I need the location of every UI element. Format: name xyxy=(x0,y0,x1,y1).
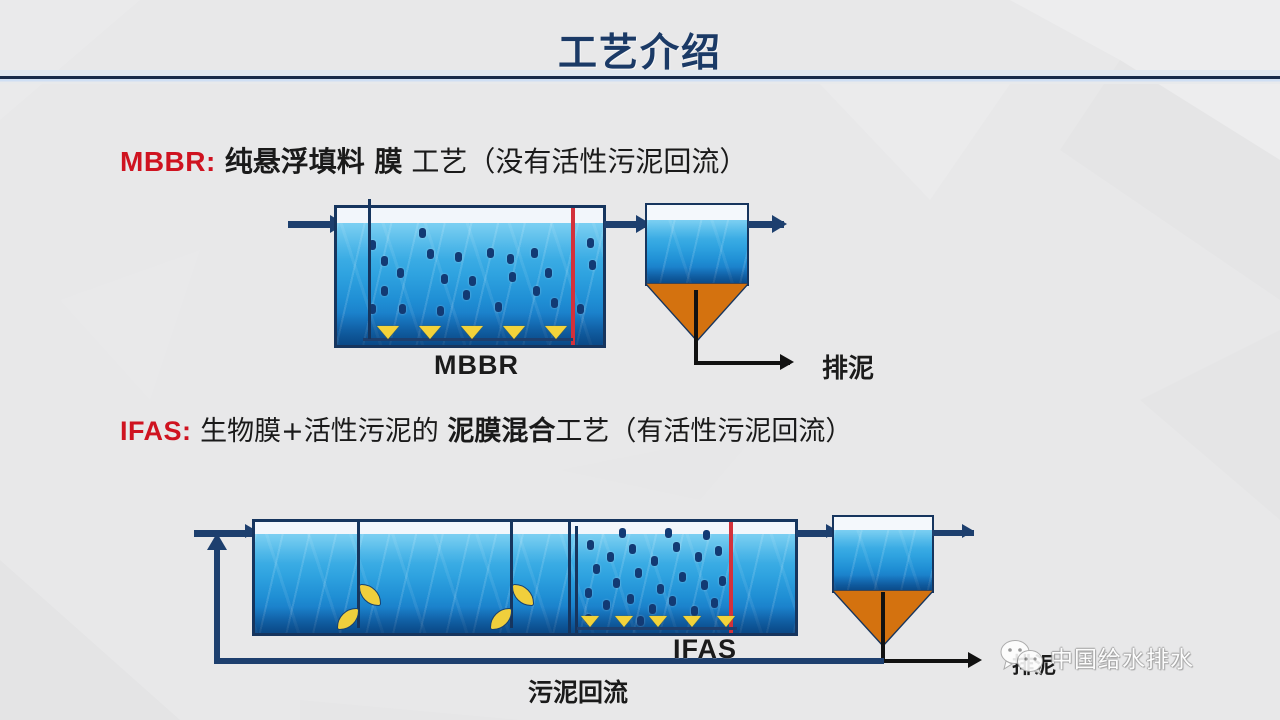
ifas-sludge-pipe xyxy=(881,659,977,663)
carrier-dot xyxy=(381,286,388,296)
slide-canvas: 工艺介绍 MBBR: 纯悬浮填料 膜 工艺（没有活性污泥回流） xyxy=(0,0,1280,720)
carrier-dot xyxy=(509,272,516,282)
carrier-dot xyxy=(469,276,476,286)
carrier-dot xyxy=(665,528,672,538)
carrier-dot xyxy=(669,596,676,606)
carrier-dot xyxy=(399,304,406,314)
ifas-air-header xyxy=(577,627,737,630)
mbbr-sludge-label: 排泥 xyxy=(822,348,874,385)
carrier-dot xyxy=(487,248,494,258)
carrier-dot xyxy=(673,542,680,552)
diffuser-icon xyxy=(683,616,701,627)
diffuser-icon xyxy=(581,616,599,627)
ifas-tank xyxy=(252,519,798,636)
carrier-dot xyxy=(701,580,708,590)
carrier-dot xyxy=(587,238,594,248)
mbbr-effluent-arrow-icon xyxy=(772,215,787,233)
mbbr-dropline xyxy=(368,199,371,339)
carrier-dot xyxy=(463,290,470,300)
diffuser-icon xyxy=(461,326,483,339)
diffuser-icon xyxy=(545,326,567,339)
ifas-sludge-arrow-icon xyxy=(968,652,982,668)
carrier-dot xyxy=(627,594,634,604)
mbbr-tank-label: MBBR xyxy=(434,350,519,381)
ifas-bold-text: 泥膜混合 xyxy=(447,416,555,447)
carrier-dot xyxy=(649,604,656,614)
ras-arrow-icon xyxy=(207,533,227,550)
header-divider xyxy=(0,70,1280,84)
mbbr-clarifier-box xyxy=(645,203,749,286)
watermark-text: 中国给水排水 xyxy=(1050,640,1194,674)
carrier-dot xyxy=(455,252,462,262)
mbbr-membrane-line xyxy=(571,208,575,345)
carrier-dot xyxy=(551,298,558,308)
carrier-dot xyxy=(427,249,434,259)
carrier-dot xyxy=(703,530,710,540)
carrier-dot xyxy=(531,248,538,258)
mbbr-clarifier-water xyxy=(647,220,747,284)
mbbr-sludge-pipe xyxy=(694,361,790,365)
carrier-dot xyxy=(629,544,636,554)
carrier-dot xyxy=(587,540,594,550)
carrier-dot xyxy=(715,546,722,556)
carrier-dot xyxy=(545,268,552,278)
mbbr-caption: MBBR: 纯悬浮填料 膜 工艺（没有活性污泥回流） xyxy=(120,140,747,180)
ifas-tank-label: IFAS xyxy=(673,634,737,665)
carrier-dot xyxy=(441,274,448,284)
carrier-dot xyxy=(397,268,404,278)
ifas-water xyxy=(255,534,795,633)
diffuser-icon xyxy=(419,326,441,339)
carrier-dot xyxy=(635,568,642,578)
ifas-clarifier-water xyxy=(834,530,932,591)
carrier-dot xyxy=(679,572,686,582)
ifas-sludge-drop-pipe xyxy=(881,592,885,662)
watermark: 中国给水排水 xyxy=(1000,640,1194,674)
carrier-dot xyxy=(651,556,658,566)
diffuser-icon xyxy=(377,326,399,339)
mbbr-tank xyxy=(334,205,606,348)
carrier-dot xyxy=(603,600,610,610)
ifas-normal-text: 工艺（有活性污泥回流） xyxy=(555,416,852,447)
mbbr-sludge-arrow-icon xyxy=(780,354,794,370)
carrier-dot xyxy=(495,302,502,312)
carrier-dot xyxy=(533,286,540,296)
carrier-dot xyxy=(437,306,444,316)
mbbr-tag: MBBR: xyxy=(120,146,216,177)
ifas-lead-text: 生物膜+活性污泥的 xyxy=(200,416,439,447)
carrier-dot xyxy=(589,260,596,270)
mbbr-normal-text: 工艺（没有活性污泥回流） xyxy=(411,145,747,178)
ifas-zone-divider xyxy=(568,519,571,636)
carrier-dot xyxy=(691,606,698,616)
carrier-dot xyxy=(585,588,592,598)
mbbr-sludge-drop-pipe xyxy=(694,290,698,364)
carrier-dot xyxy=(695,552,702,562)
carrier-dot xyxy=(719,576,726,586)
diffuser-icon xyxy=(717,616,735,627)
ifas-effluent-arrow-icon xyxy=(962,524,974,538)
ifas-caption: IFAS: 生物膜+活性污泥的 泥膜混合工艺（有活性污泥回流） xyxy=(120,409,852,448)
carrier-dot xyxy=(711,598,718,608)
carrier-dot xyxy=(381,256,388,266)
ifas-clarifier-box xyxy=(832,515,934,593)
ifas-zone-divider-inner xyxy=(575,526,578,636)
wechat-icon xyxy=(1000,640,1044,674)
carrier-dot xyxy=(577,304,584,314)
carrier-dot xyxy=(637,616,644,626)
diffuser-icon xyxy=(615,616,633,627)
carrier-dot xyxy=(593,564,600,574)
carrier-dot xyxy=(419,228,426,238)
diffuser-icon xyxy=(649,616,667,627)
ras-horizontal-pipe xyxy=(214,658,884,664)
ras-label: 污泥回流 xyxy=(528,673,628,709)
diffuser-icon xyxy=(503,326,525,339)
mbbr-bold-text: 纯悬浮填料 膜 xyxy=(225,145,403,178)
carrier-dot xyxy=(507,254,514,264)
ras-vertical-pipe xyxy=(214,548,220,660)
carrier-dot xyxy=(607,552,614,562)
carrier-dot xyxy=(657,584,664,594)
carrier-dot xyxy=(613,578,620,588)
ifas-tag: IFAS: xyxy=(120,416,192,446)
carrier-dot xyxy=(619,528,626,538)
